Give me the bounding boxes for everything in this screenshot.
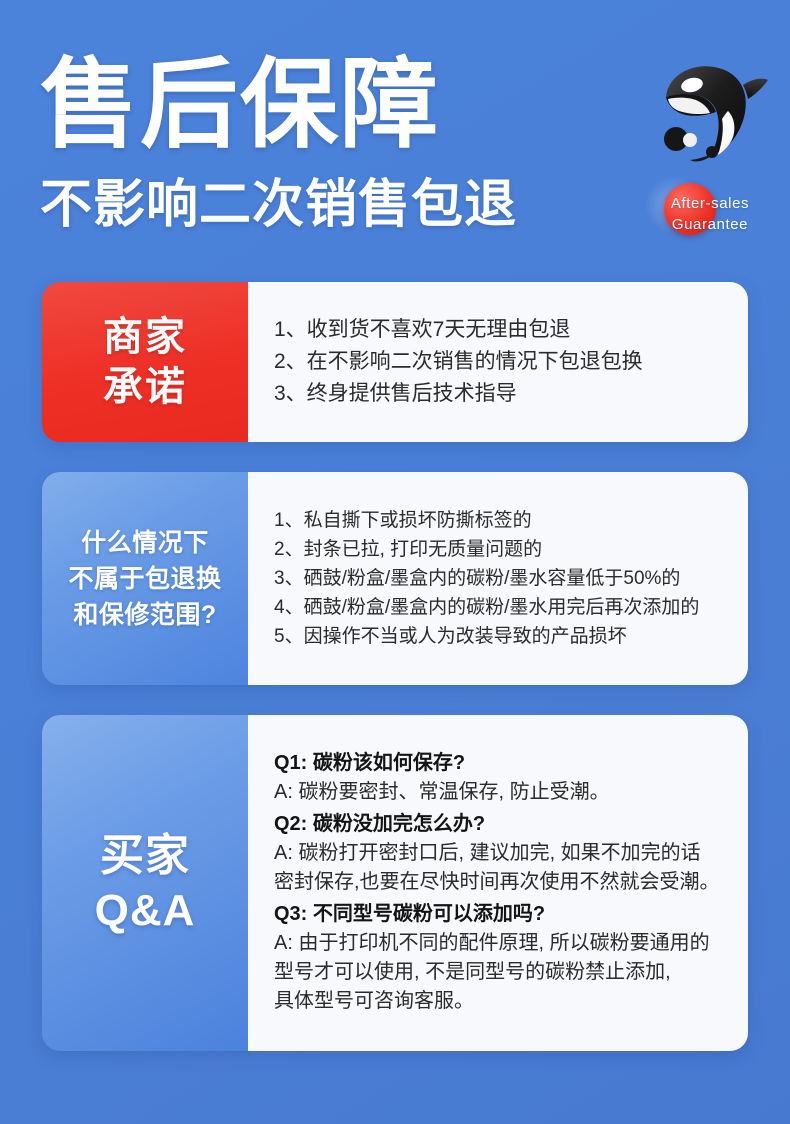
orca-whale-icon	[648, 55, 776, 175]
buyer-qa-label: 买家 Q&A	[42, 715, 248, 1051]
merchant-promise-body: 1、收到货不喜欢7天无理由包退 2、在不影响二次销售的情况下包退包换 3、终身提…	[248, 282, 748, 442]
list-item: 3、硒鼓/粉盒/墨盒内的碳粉/墨水容量低于50%的	[274, 564, 730, 593]
exclusions-label-line-1: 什么情况下	[68, 525, 221, 561]
list-item: 4、硒鼓/粉盒/墨盒内的碳粉/墨水用完后再次添加的	[274, 593, 730, 622]
badge-line-1: After-sales	[640, 193, 780, 214]
badge-line-2: Guarantee	[640, 214, 780, 235]
qa-answer-line: A: 碳粉要密封、常温保存, 防止受潮。	[274, 778, 732, 807]
badge-text: After-sales Guarantee	[640, 193, 780, 235]
exclusions-card: 什么情况下 不属于包退换 和保修范围? 1、私自撕下或损坏防撕标签的 2、封条已…	[42, 472, 748, 685]
merchant-promise-label-line-1: 商家	[103, 312, 187, 362]
buyer-qa-body: Q1: 碳粉该如何保存? A: 碳粉要密封、常温保存, 防止受潮。 Q2: 碳粉…	[248, 715, 748, 1051]
qa-question: Q3: 不同型号碳粉可以添加吗?	[274, 899, 732, 929]
buyer-qa-label-line-1: 买家	[95, 828, 196, 883]
page-root: 售后保障 不影响二次销售包退	[0, 0, 790, 1124]
qa-question: Q1: 碳粉该如何保存?	[274, 748, 732, 778]
page-subtitle: 不影响二次销售包退	[40, 176, 517, 234]
qa-question: Q2: 碳粉没加完怎么办?	[274, 809, 732, 839]
buyer-qa-label-line-2: Q&A	[95, 883, 196, 938]
buyer-qa-card: 买家 Q&A Q1: 碳粉该如何保存? A: 碳粉要密封、常温保存, 防止受潮。…	[42, 715, 748, 1051]
qa-item: Q3: 不同型号碳粉可以添加吗? A: 由于打印机不同的配件原理, 所以碳粉要通…	[274, 899, 732, 1016]
qa-answer-line: 具体型号可咨询客服。	[274, 987, 732, 1016]
merchant-promise-label: 商家 承诺	[42, 282, 248, 442]
qa-item: Q1: 碳粉该如何保存? A: 碳粉要密封、常温保存, 防止受潮。	[274, 748, 732, 807]
qa-answer-line: 型号才可以使用, 不是同型号的碳粉禁止添加,	[274, 958, 732, 987]
page-title: 售后保障	[40, 52, 440, 156]
list-item: 3、终身提供售后技术指导	[274, 378, 730, 410]
list-item: 2、在不影响二次销售的情况下包退包换	[274, 346, 730, 378]
exclusions-label: 什么情况下 不属于包退换 和保修范围?	[42, 472, 248, 685]
exclusions-label-line-3: 和保修范围?	[68, 597, 221, 633]
header-banner: 售后保障 不影响二次销售包退	[0, 0, 790, 275]
list-item: 2、封条已拉, 打印无质量问题的	[274, 535, 730, 564]
qa-answer-line: A: 由于打印机不同的配件原理, 所以碳粉要通用的	[274, 929, 732, 958]
list-item: 1、私自撕下或损坏防撕标签的	[274, 506, 730, 535]
exclusions-body: 1、私自撕下或损坏防撕标签的 2、封条已拉, 打印无质量问题的 3、硒鼓/粉盒/…	[248, 472, 748, 685]
exclusions-label-line-2: 不属于包退换	[68, 561, 221, 597]
qa-answer-line: 密封保存,也要在尽快时间再次使用不然就会受潮。	[274, 868, 732, 897]
merchant-promise-label-line-2: 承诺	[103, 362, 187, 412]
qa-item: Q2: 碳粉没加完怎么办? A: 碳粉打开密封口后, 建议加完, 如果不加完的话…	[274, 809, 732, 897]
brand-logo: After-sales Guarantee	[640, 55, 780, 240]
list-item: 1、收到货不喜欢7天无理由包退	[274, 314, 730, 346]
qa-answer-line: A: 碳粉打开密封口后, 建议加完, 如果不加完的话	[274, 839, 732, 868]
list-item: 5、因操作不当或人为改装导致的产品损坏	[274, 622, 730, 651]
merchant-promise-card: 商家 承诺 1、收到货不喜欢7天无理由包退 2、在不影响二次销售的情况下包退包换…	[42, 282, 748, 442]
